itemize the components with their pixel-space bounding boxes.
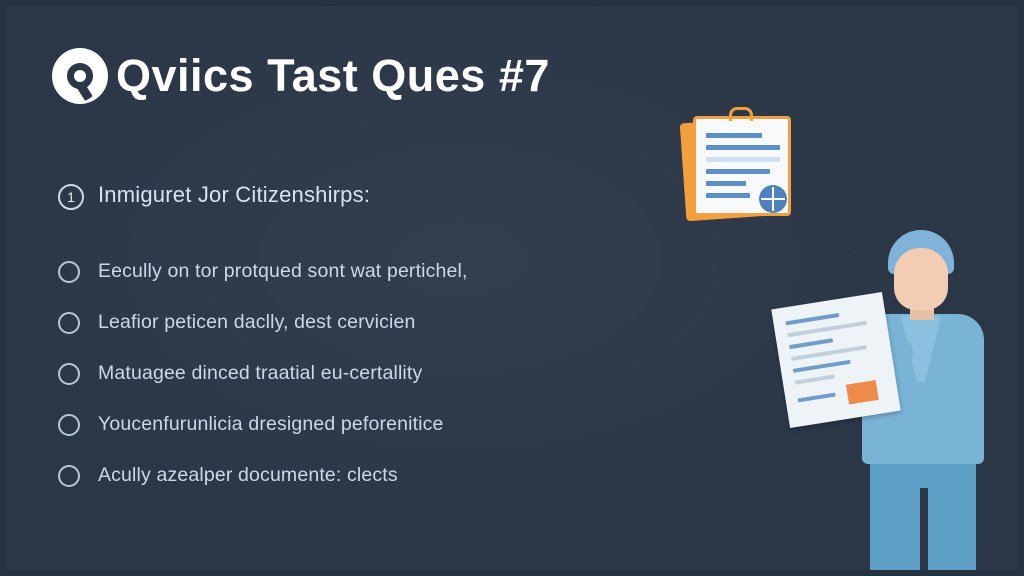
search-icon <box>52 48 108 104</box>
clipboard-line <box>706 133 762 138</box>
document-line <box>795 374 835 384</box>
clipboard-line <box>706 145 780 150</box>
option-e[interactable]: Acully azealper documente: clects <box>58 450 668 501</box>
search-icon-handle <box>76 82 93 101</box>
radio-circle-icon[interactable] <box>58 465 80 487</box>
clipboard-icon <box>683 112 798 220</box>
page-title: Qviics Tast Ques #7 <box>116 50 550 102</box>
question-text: Inmiguret Jor Citizenshirps: <box>98 182 370 208</box>
document-line <box>793 360 851 373</box>
radio-circle-icon[interactable] <box>58 261 80 283</box>
slide-canvas: Qviics Tast Ques #7 1 Inmiguret Jor Citi… <box>0 0 1024 576</box>
person-leg-gap <box>920 488 928 576</box>
clipboard-line <box>706 181 746 186</box>
question-number: 1 <box>58 184 84 210</box>
option-label: Eecully on tor protqued sont wat pertich… <box>98 260 468 283</box>
clipboard-seal-icon <box>759 185 787 213</box>
document-line <box>785 313 839 325</box>
clipboard-line <box>706 169 770 174</box>
document-line <box>789 338 833 349</box>
options-list: Eecully on tor protqued sont wat pertich… <box>58 246 668 501</box>
radio-circle-icon[interactable] <box>58 363 80 385</box>
document-stamp <box>846 380 879 404</box>
option-d[interactable]: Youcenfurunlicia dresigned peforenitice <box>58 399 668 450</box>
option-c[interactable]: Matuagee dinced traatial eu-certallity <box>58 348 668 399</box>
option-label: Matuagee dinced traatial eu-certallity <box>98 362 422 385</box>
person-head <box>894 248 948 310</box>
clipboard-line <box>706 157 780 162</box>
radio-circle-icon[interactable] <box>58 312 80 334</box>
clipboard-clip <box>729 107 753 121</box>
document-line <box>798 393 836 403</box>
document-icon <box>771 292 900 428</box>
option-label: Leafior peticen daclly, dest cervicien <box>98 311 416 334</box>
question-row: 1 Inmiguret Jor Citizenshirps: <box>58 182 370 210</box>
option-b[interactable]: Leafior peticen daclly, dest cervicien <box>58 297 668 348</box>
option-label: Youcenfurunlicia dresigned peforenitice <box>98 413 444 436</box>
option-label: Acully azealper documente: clects <box>98 464 398 487</box>
clipboard-line <box>706 193 750 198</box>
option-a[interactable]: Eecully on tor protqued sont wat pertich… <box>58 246 668 297</box>
person-holding-document-illustration <box>770 230 1020 576</box>
clipboard-front-sheet <box>693 116 791 216</box>
title-row: Qviics Tast Ques #7 <box>52 48 550 104</box>
document-line <box>791 345 867 361</box>
radio-circle-icon[interactable] <box>58 414 80 436</box>
